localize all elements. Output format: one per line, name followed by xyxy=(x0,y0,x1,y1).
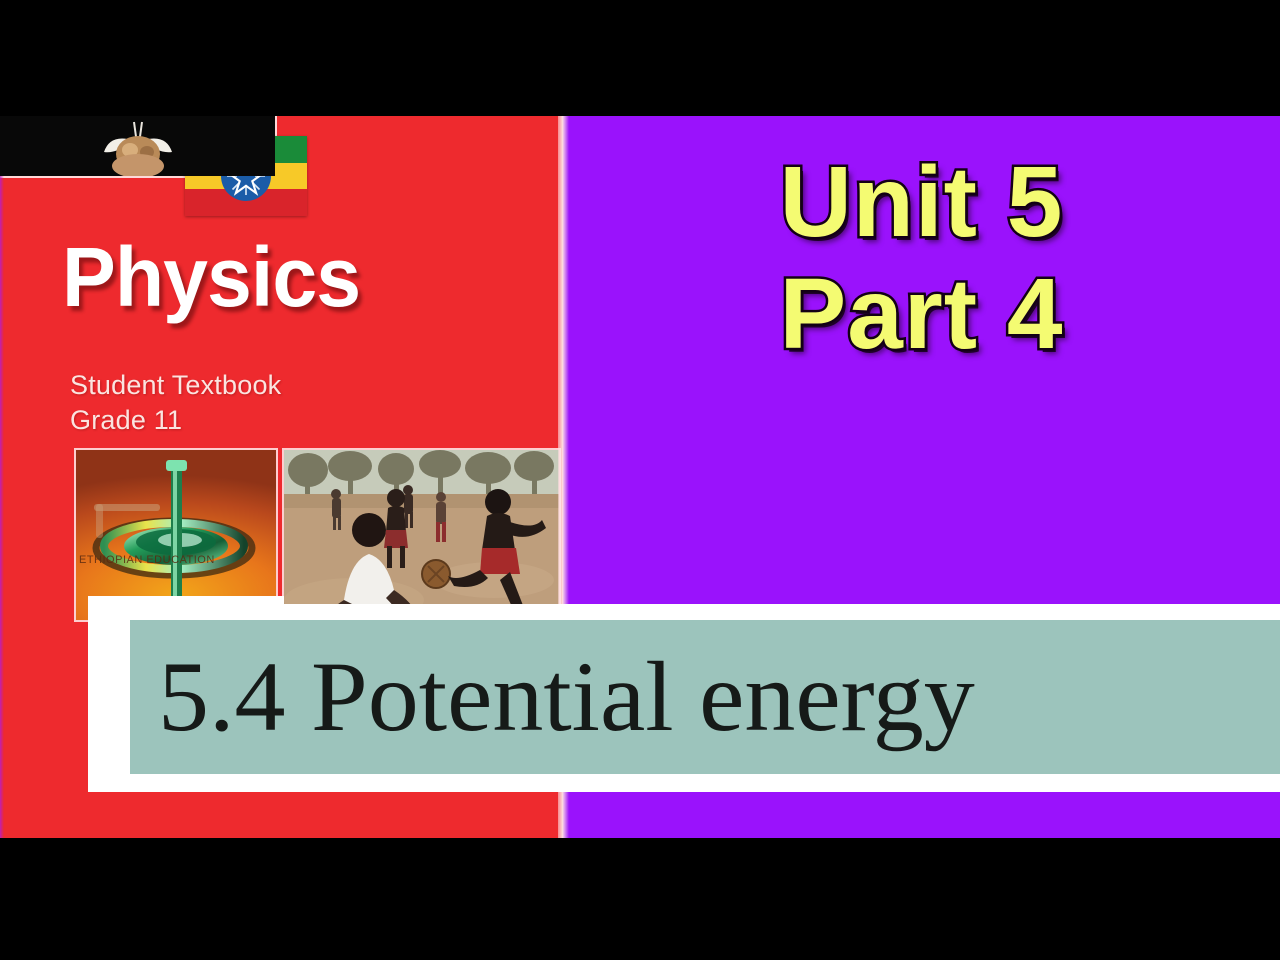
section-title-text: 5.4 Potential energy xyxy=(158,647,975,747)
unit-part-heading: Unit 5 Part 4 xyxy=(563,146,1280,370)
unit-line: Unit 5 xyxy=(563,146,1280,258)
dark-bottom-photo xyxy=(0,116,275,176)
video-screenshot: Physics Student Textbook Grade 11 xyxy=(0,0,1280,960)
letterbox-bottom xyxy=(0,838,1280,960)
section-title-banner: 5.4 Potential energy xyxy=(88,604,1280,792)
part-line: Part 4 xyxy=(563,258,1280,370)
letterbox-top xyxy=(0,0,1280,116)
video-frame: Physics Student Textbook Grade 11 xyxy=(0,116,1280,838)
section-title-banner-inner: 5.4 Potential energy xyxy=(130,620,1280,774)
